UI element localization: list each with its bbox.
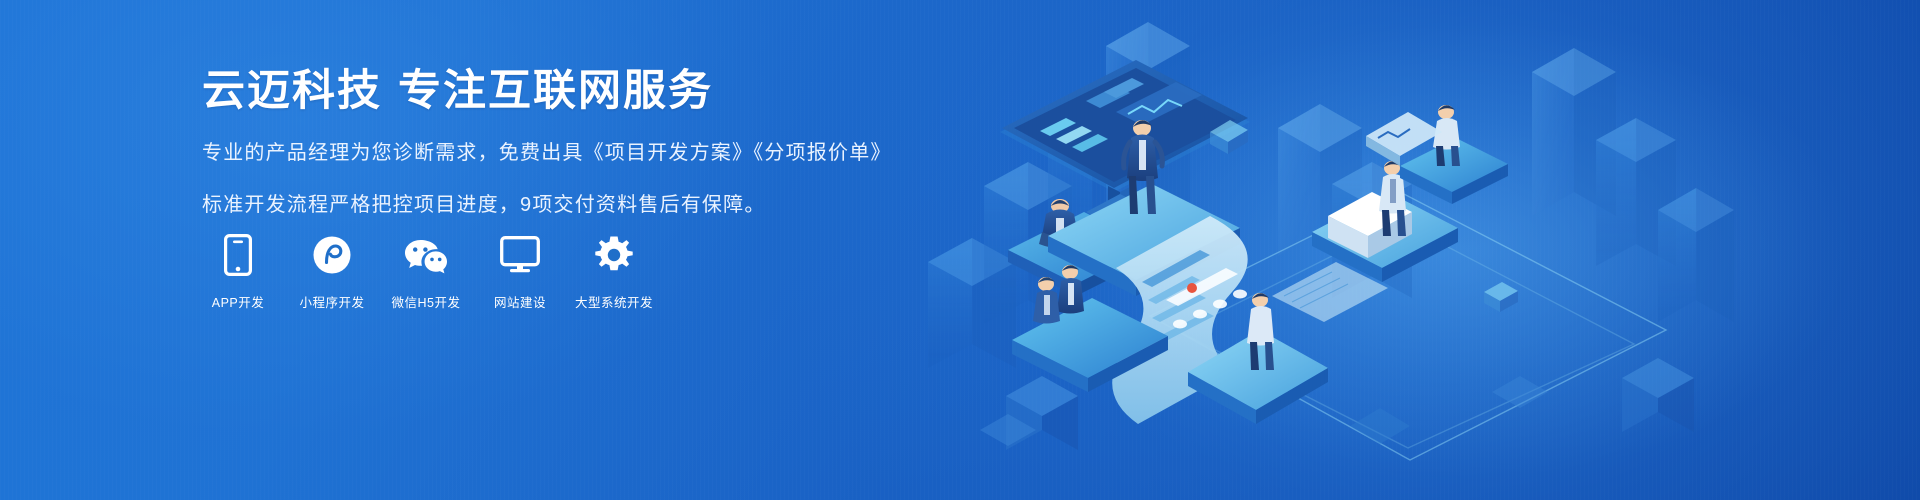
service-item-miniprogram[interactable]: 小程序开发 — [296, 232, 368, 311]
page-title: 云迈科技专注互联网服务 — [202, 66, 922, 117]
service-label-miniprogram: 小程序开发 — [299, 292, 364, 311]
hero-illustration — [880, 0, 1920, 500]
mini-program-icon — [312, 232, 352, 278]
hero-content: 云迈科技专注互联网服务 专业的产品经理为您诊断需求，免费出具《项目开发方案》《分… — [202, 66, 922, 241]
wechat-icon — [403, 232, 449, 278]
service-label-wechat: 微信H5开发 — [392, 292, 461, 311]
service-label-system: 大型系统开发 — [575, 292, 653, 311]
service-item-website[interactable]: 网站建设 — [484, 232, 556, 311]
hero-banner: 云迈科技专注互联网服务 专业的产品经理为您诊断需求，免费出具《项目开发方案》《分… — [0, 0, 1920, 500]
service-item-wechat[interactable]: 微信H5开发 — [390, 232, 462, 311]
monitor-icon — [500, 232, 540, 278]
gear-icon — [594, 232, 634, 278]
subtitle-line-1: 专业的产品经理为您诊断需求，免费出具《项目开发方案》《分项报价单》 — [202, 137, 922, 169]
service-label-app: APP开发 — [212, 292, 265, 311]
mobile-phone-icon — [224, 232, 252, 278]
service-item-system[interactable]: 大型系统开发 — [578, 232, 650, 311]
service-item-app[interactable]: APP开发 — [202, 232, 274, 311]
service-label-website: 网站建设 — [494, 292, 546, 311]
title-part-1: 云迈科技 — [202, 67, 382, 115]
title-part-2: 专注互联网服务 — [398, 67, 713, 115]
subtitle-block: 专业的产品经理为您诊断需求，免费出具《项目开发方案》《分项报价单》 标准开发流程… — [202, 137, 922, 221]
service-icon-row: APP开发 小程序开发 微信 — [202, 232, 672, 311]
subtitle-line-2: 标准开发流程严格把控项目进度，9项交付资料售后有保障。 — [202, 189, 922, 221]
